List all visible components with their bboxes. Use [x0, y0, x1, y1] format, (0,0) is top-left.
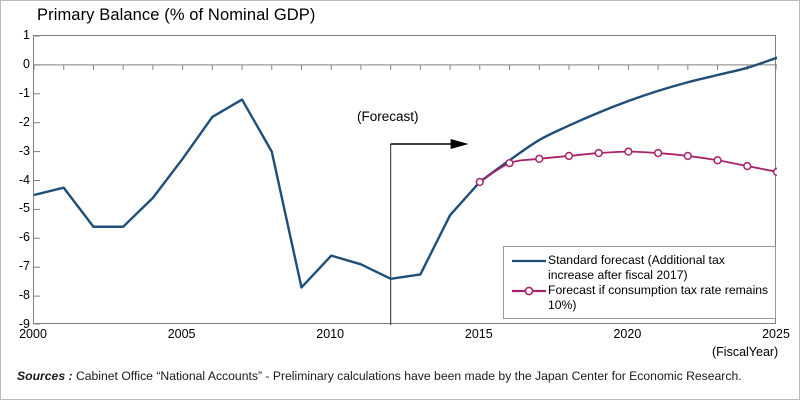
series-marker [476, 179, 483, 186]
y-tick-label: -3 [4, 144, 30, 157]
x-axis-unit-label: (FiscalYear) [712, 345, 778, 359]
y-tick-label: -1 [4, 87, 30, 100]
y-tick-label: 0 [4, 58, 30, 71]
series-marker [655, 150, 662, 157]
source-label: Sources : [17, 369, 73, 383]
x-tick-label: 2020 [613, 328, 641, 341]
y-tick-label: -5 [4, 202, 30, 215]
series-marker [744, 163, 751, 170]
x-tick-label: 2000 [19, 328, 47, 341]
chart-figure: Primary Balance (% of Nominal GDP) 10-1-… [0, 0, 800, 400]
series-marker [714, 157, 721, 164]
y-tick-label: -4 [4, 173, 30, 186]
source-text: Cabinet Office “National Accounts” - Pre… [76, 369, 742, 383]
x-tick-label: 2015 [465, 328, 493, 341]
source-note: Sources : Cabinet Office “National Accou… [17, 369, 742, 383]
series-marker [566, 153, 573, 160]
x-axis-labels: 200020052010201520202025 [33, 328, 776, 346]
series-marker [536, 155, 543, 162]
legend-swatch-line-marker [510, 284, 548, 299]
y-tick-label: -8 [4, 289, 30, 302]
legend-swatch-line [510, 254, 548, 269]
legend-label-alt-forecast: Forecast if consumption tax rate remains… [548, 283, 771, 312]
series-marker [506, 160, 513, 167]
chart-title: Primary Balance (% of Nominal GDP) [37, 6, 315, 25]
legend-label-standard-forecast: Standard forecast (Additional tax increa… [548, 253, 771, 282]
chart-legend: Standard forecast (Additional tax increa… [503, 246, 776, 319]
y-tick-label: 1 [4, 29, 30, 42]
series-marker [625, 148, 632, 155]
series-line-alt-forecast [480, 152, 777, 182]
forecast-annotation-group [391, 139, 469, 325]
series-marker [774, 168, 777, 175]
legend-item: Standard forecast (Additional tax increa… [510, 253, 771, 282]
series-marker [684, 153, 691, 160]
x-tick-label: 2005 [168, 328, 196, 341]
legend-item: Forecast if consumption tax rate remains… [510, 283, 771, 312]
x-tick-label: 2025 [762, 328, 790, 341]
y-tick-label: -6 [4, 231, 30, 244]
x-tick-label: 2010 [316, 328, 344, 341]
y-tick-label: -7 [4, 260, 30, 273]
forecast-label: (Forecast) [357, 109, 419, 124]
series-line-standard-historical [34, 100, 480, 288]
y-axis-labels: 10-1-2-3-4-5-6-7-8-9 [1, 35, 30, 324]
series-marker [595, 150, 602, 157]
y-tick-label: -2 [4, 115, 30, 128]
